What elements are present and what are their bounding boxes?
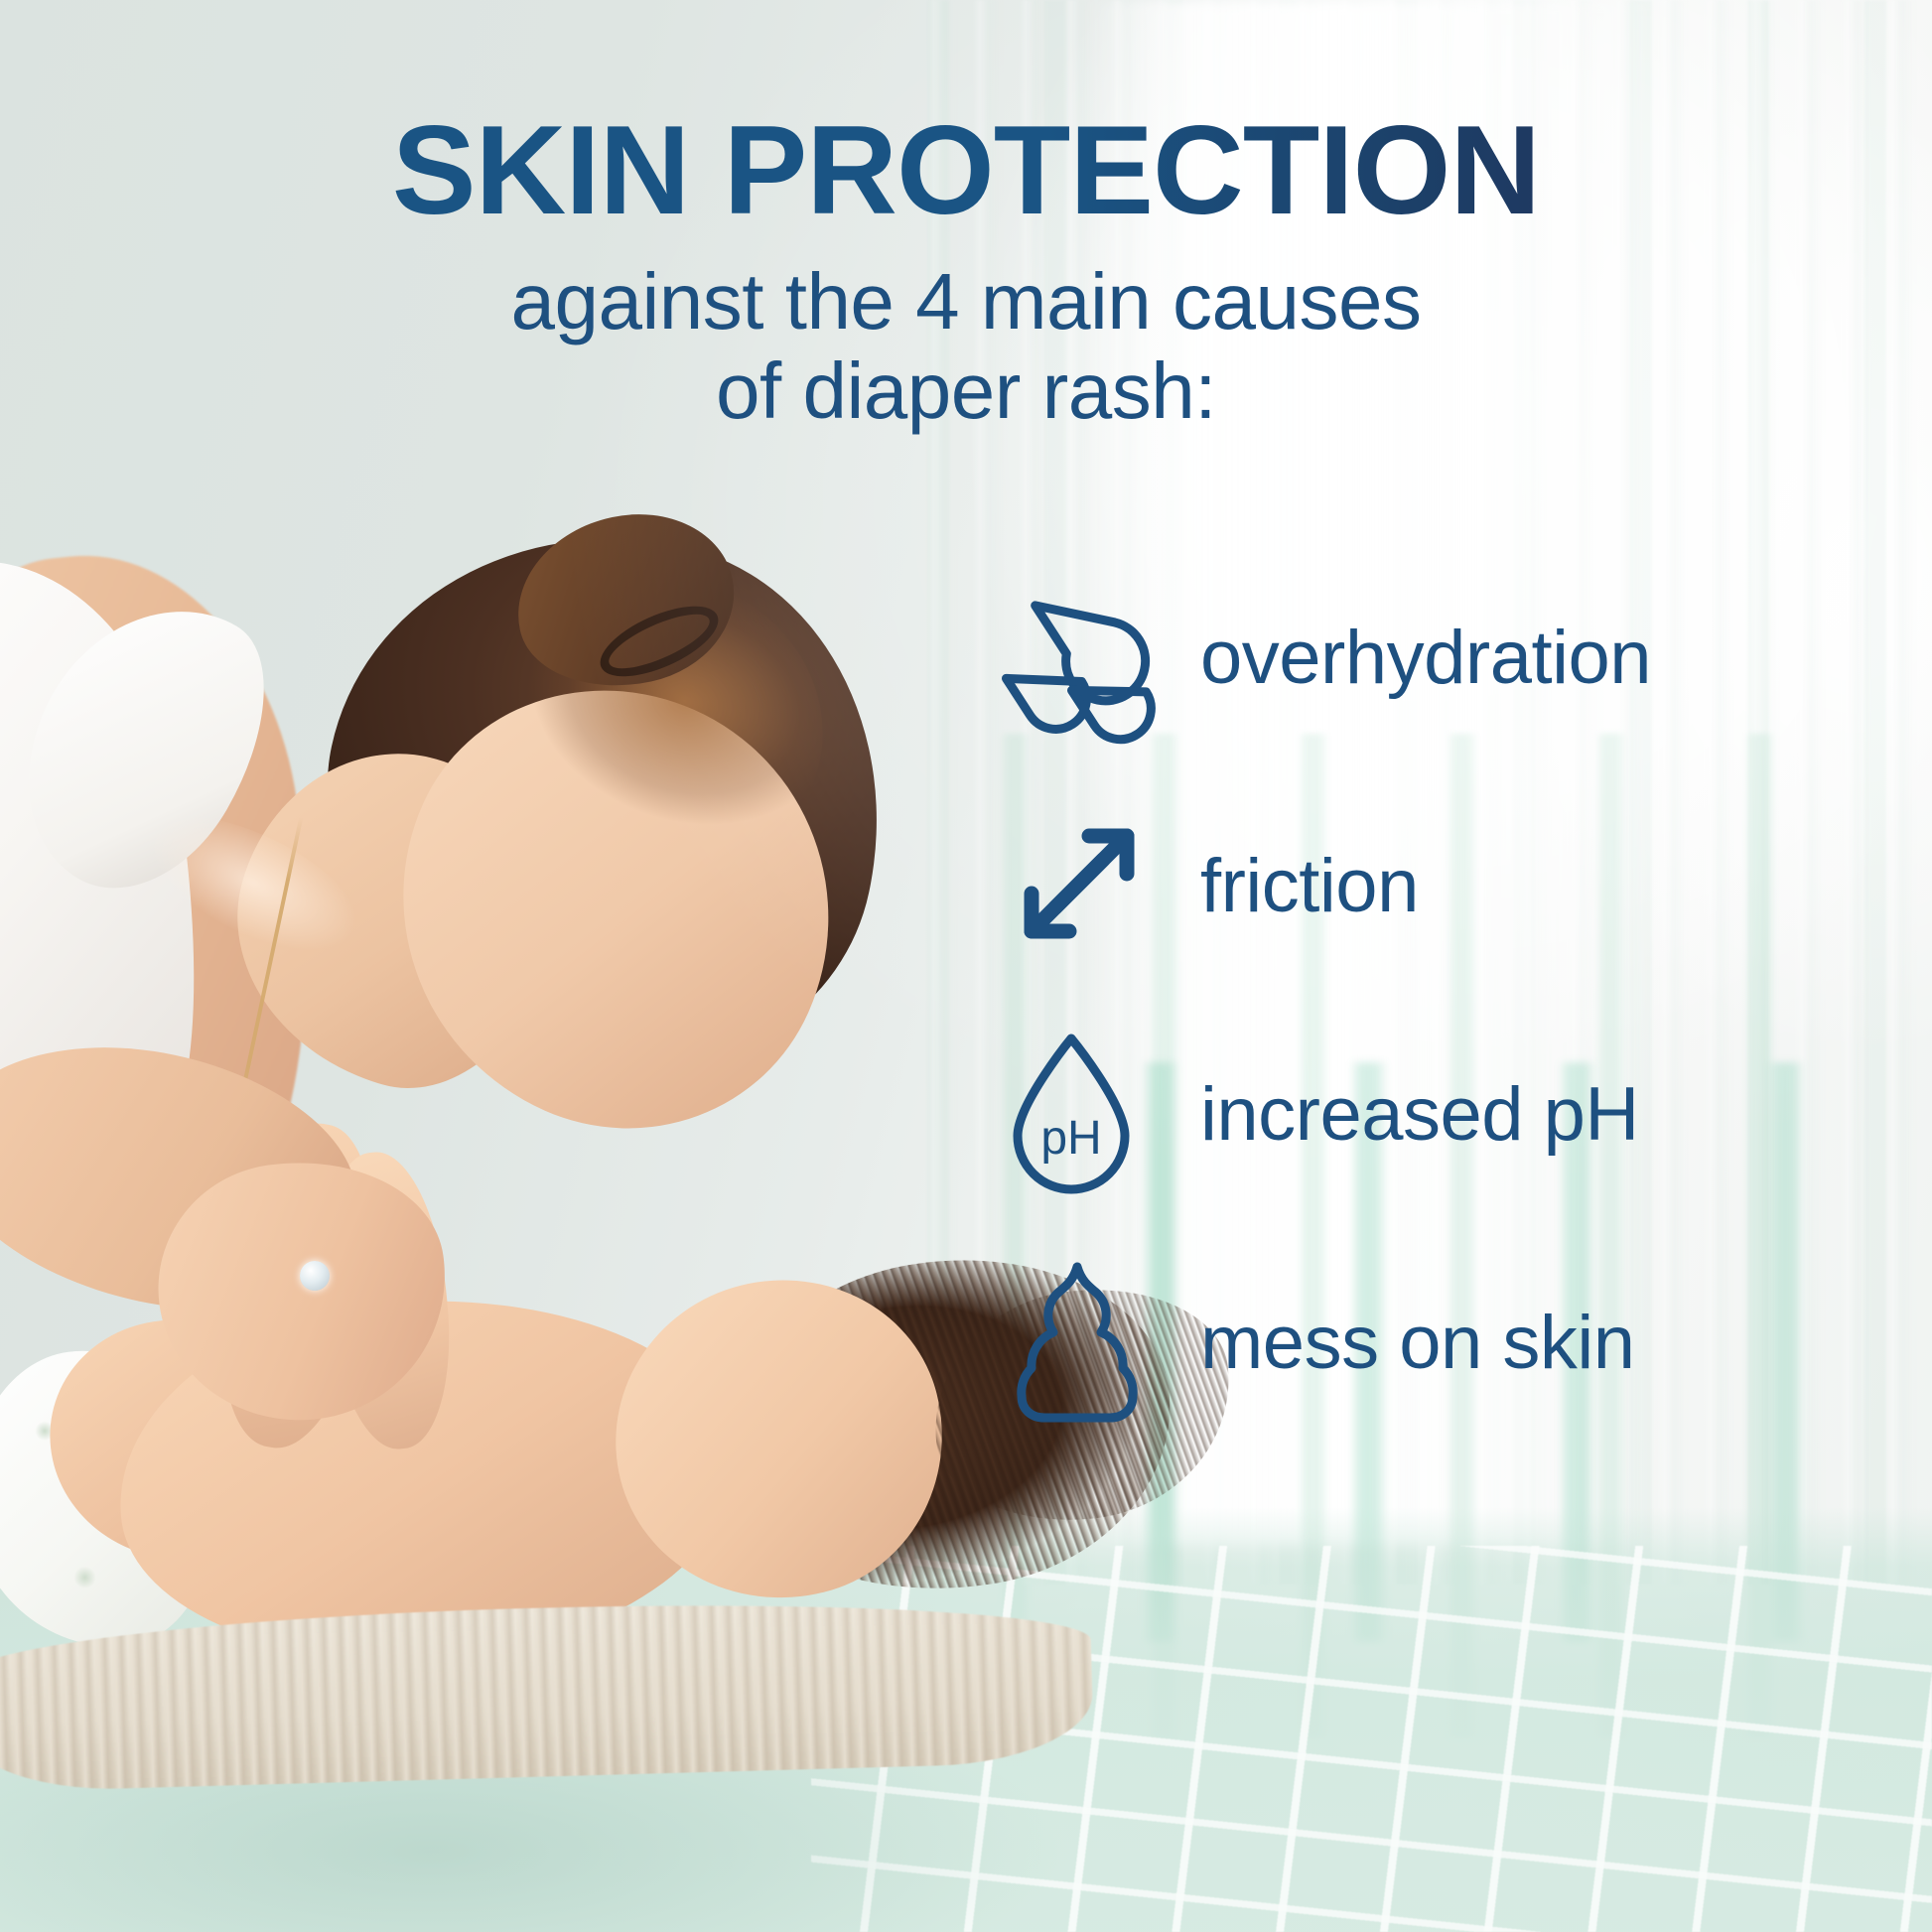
mother-ring [300, 1261, 330, 1291]
cause-label-mess-on-skin: mess on skin [1200, 1306, 1635, 1381]
cause-item-mess-on-skin: mess on skin [1008, 1229, 1931, 1457]
cause-item-friction: friction [1008, 772, 1931, 1001]
ph-droplet-icon: pH [1008, 1024, 1157, 1207]
page-title: SKIN PROTECTION [0, 107, 1932, 233]
advertisement-canvas: SKIN PROTECTION against the 4 main cause… [0, 0, 1932, 1932]
mess-stool-icon [1008, 1252, 1157, 1436]
page-subtitle: against the 4 main causes of diaper rash… [0, 257, 1932, 435]
friction-arrows-icon [1008, 795, 1157, 979]
cause-item-overhydration: overhydration [1008, 544, 1931, 772]
water-droplets-icon [1008, 567, 1157, 751]
cause-label-overhydration: overhydration [1200, 621, 1651, 696]
page-subtitle-line-1: against the 4 main causes [0, 257, 1932, 346]
headline-block: SKIN PROTECTION against the 4 main cause… [0, 107, 1932, 435]
causes-list: overhydration friction pH [1008, 544, 1931, 1457]
cause-item-increased-ph: pH increased pH [1008, 1001, 1931, 1229]
ph-icon-text: pH [1040, 1112, 1101, 1165]
page-subtitle-line-2: of diaper rash: [0, 346, 1932, 436]
cause-label-friction: friction [1200, 849, 1419, 924]
cause-label-increased-ph: increased pH [1200, 1077, 1639, 1153]
